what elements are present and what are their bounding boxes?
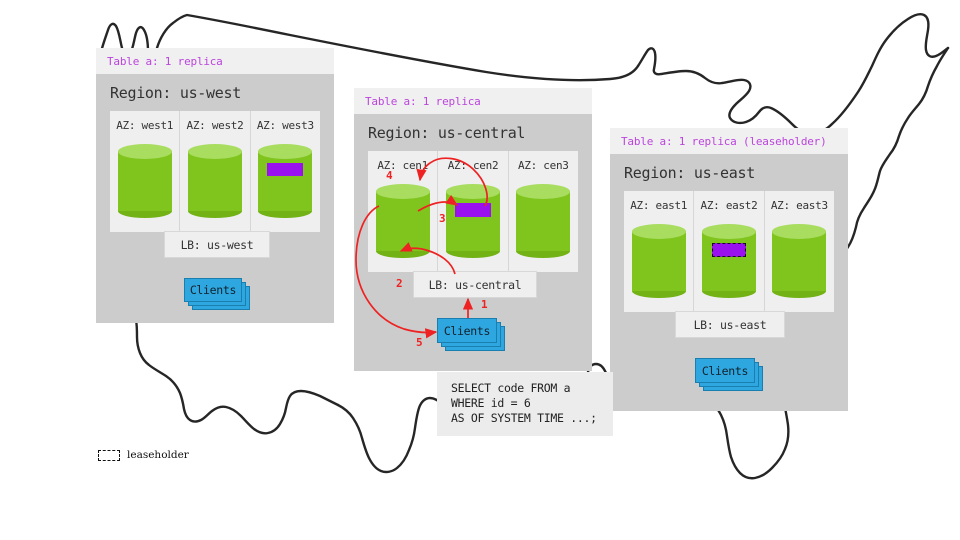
az-label: AZ: west2 (180, 119, 249, 132)
cylinder-cen3[interactable] (516, 184, 570, 258)
az-strip-us-central: AZ: cen1 AZ: cen2 AZ: cen3 (368, 151, 578, 272)
az-strip-us-east: AZ: east1 AZ: east2 AZ: east3 (624, 191, 834, 312)
cylinder-east3[interactable] (772, 224, 826, 298)
region-title-us-east: Region: us-east (610, 154, 848, 191)
clients-label: Clients (702, 364, 748, 378)
clients-label: Clients (444, 324, 490, 338)
region-us-central: Table a: 1 replica Region: us-central AZ… (354, 88, 592, 371)
cylinder-west3[interactable] (258, 144, 312, 218)
legend-leaseholder: leaseholder (98, 449, 189, 461)
range-replica-cen2[interactable] (455, 203, 491, 217)
arrow-number-1: 1 (481, 298, 488, 311)
lb-us-central[interactable]: LB: us-central (413, 271, 537, 298)
cylinder-east2[interactable] (702, 224, 756, 298)
sql-line-2: WHERE id = 6 (451, 396, 601, 411)
lb-us-west[interactable]: LB: us-west (164, 231, 270, 258)
az-west1[interactable]: AZ: west1 (110, 111, 179, 232)
cylinder-west1[interactable] (118, 144, 172, 218)
az-east2[interactable]: AZ: east2 (693, 191, 763, 312)
range-replica-leaseholder-east2[interactable] (712, 243, 746, 257)
az-label: AZ: east3 (765, 199, 834, 212)
az-east3[interactable]: AZ: east3 (764, 191, 834, 312)
cylinder-cen1[interactable] (376, 184, 430, 258)
clients-label: Clients (190, 283, 236, 297)
az-cen3[interactable]: AZ: cen3 (508, 151, 578, 272)
az-west2[interactable]: AZ: west2 (179, 111, 249, 232)
az-label: AZ: west3 (251, 119, 320, 132)
az-east1[interactable]: AZ: east1 (624, 191, 693, 312)
az-label: AZ: east2 (694, 199, 763, 212)
arrow-number-5: 5 (416, 336, 423, 349)
sql-query-box: SELECT code FROM a WHERE id = 6 AS OF SY… (437, 372, 613, 436)
clients-us-central[interactable]: Clients (437, 318, 507, 350)
az-west3[interactable]: AZ: west3 (250, 111, 320, 232)
az-label: AZ: cen3 (509, 159, 578, 172)
diagram-canvas: Table a: 1 replica Region: us-west AZ: w… (0, 0, 960, 540)
clients-us-east[interactable]: Clients (695, 358, 765, 390)
az-label: AZ: west1 (110, 119, 179, 132)
cylinder-west2[interactable] (188, 144, 242, 218)
region-us-east: Table a: 1 replica (leaseholder) Region:… (610, 128, 848, 411)
region-title-us-west: Region: us-west (96, 74, 334, 111)
cylinder-east1[interactable] (632, 224, 686, 298)
region-header-us-central: Table a: 1 replica (354, 88, 592, 114)
az-cen2[interactable]: AZ: cen2 (437, 151, 507, 272)
arrow-number-4: 4 (386, 169, 393, 182)
arrow-number-3: 3 (439, 212, 446, 225)
az-label: AZ: cen1 (368, 159, 437, 172)
region-replica-label: Table a: 1 replica (107, 55, 323, 68)
az-cen1[interactable]: AZ: cen1 (368, 151, 437, 272)
az-strip-us-west: AZ: west1 AZ: west2 AZ: west3 (110, 111, 320, 232)
az-label: AZ: cen2 (438, 159, 507, 172)
clients-us-west[interactable]: Clients (184, 278, 250, 310)
az-label: AZ: east1 (624, 199, 693, 212)
region-header-us-west: Table a: 1 replica (96, 48, 334, 74)
region-replica-label: Table a: 1 replica (365, 95, 581, 108)
region-us-west: Table a: 1 replica Region: us-west AZ: w… (96, 48, 334, 323)
lb-us-east[interactable]: LB: us-east (675, 311, 785, 338)
region-header-us-east: Table a: 1 replica (leaseholder) (610, 128, 848, 154)
map-path-great-lakes (638, 14, 948, 134)
region-title-us-central: Region: us-central (354, 114, 592, 151)
sql-line-3: AS OF SYSTEM TIME ...; (451, 411, 601, 426)
cylinder-cen2[interactable] (446, 184, 500, 258)
legend-label: leaseholder (127, 449, 189, 461)
region-replica-label: Table a: 1 replica (leaseholder) (621, 135, 837, 148)
sql-line-1: SELECT code FROM a (451, 381, 601, 396)
arrow-number-2: 2 (396, 277, 403, 290)
dashed-rect-icon (98, 450, 120, 461)
range-replica-west3[interactable] (267, 163, 303, 176)
